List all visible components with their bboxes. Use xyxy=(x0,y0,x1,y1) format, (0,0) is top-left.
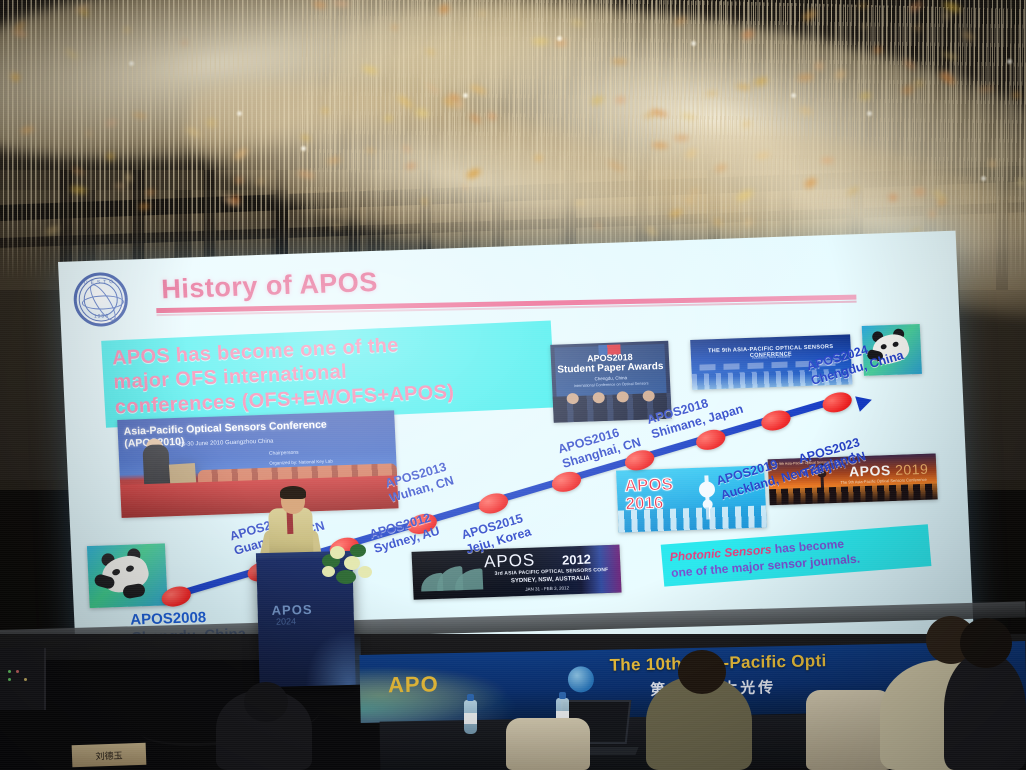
uestc-logo-icon: UESTC 1956 xyxy=(73,272,129,328)
apos2012-line3: JAN 31 - FEB 3, 2012 xyxy=(525,585,569,592)
apos2012-line2: SYDNEY, NSW, AUSTRALIA xyxy=(511,576,590,585)
page-title: History of APOS xyxy=(161,267,379,306)
conference-hall-photo: UESTC 1956 History of APOS APOS has beco… xyxy=(0,0,1026,770)
banner-left-text: APO xyxy=(388,671,439,698)
flower-arrangement xyxy=(320,540,378,588)
globe-icon xyxy=(568,666,595,693)
photo-apos2010-line4: Organized by: National Key Lab xyxy=(269,459,333,466)
photo-panda-2008 xyxy=(87,543,168,608)
podium-brand-sub: 2024 xyxy=(276,616,296,627)
timeline-label-apos2012: APOS2012Sydney, AU xyxy=(368,509,442,557)
apos2019-year: 2019 xyxy=(895,461,929,478)
audience-person xyxy=(944,652,1026,770)
audience-head xyxy=(678,650,726,694)
journal-note-box: Photonic Sensors has become one of the m… xyxy=(661,524,932,587)
apos2012-year: 2012 xyxy=(562,552,592,568)
photo-apos2010-conference: Asia-Pacific Optical Sensors Conference … xyxy=(117,410,398,518)
apos2016-year: 2016 xyxy=(625,493,664,514)
chandelier-rods-secondary xyxy=(297,0,1026,260)
audience-head xyxy=(244,682,288,722)
timeline-node-apos2024 xyxy=(820,389,854,416)
audience-head xyxy=(960,618,1012,668)
photo-apos2012-sydney: APOS 2012 3rd ASIA PACIFIC OPTICAL SENSO… xyxy=(412,545,622,600)
speaker-lanyard xyxy=(287,512,294,534)
speaker-hair xyxy=(280,486,306,499)
timeline-arrow-icon xyxy=(855,392,874,412)
photo-apos2010-line3: Chairpersons xyxy=(269,450,299,457)
audience-chair xyxy=(506,718,590,770)
av-equipment-rack xyxy=(0,648,46,710)
water-bottle xyxy=(464,700,477,734)
table-nameplate: 刘德玉 xyxy=(72,743,147,768)
logo-year: 1956 xyxy=(77,313,125,321)
